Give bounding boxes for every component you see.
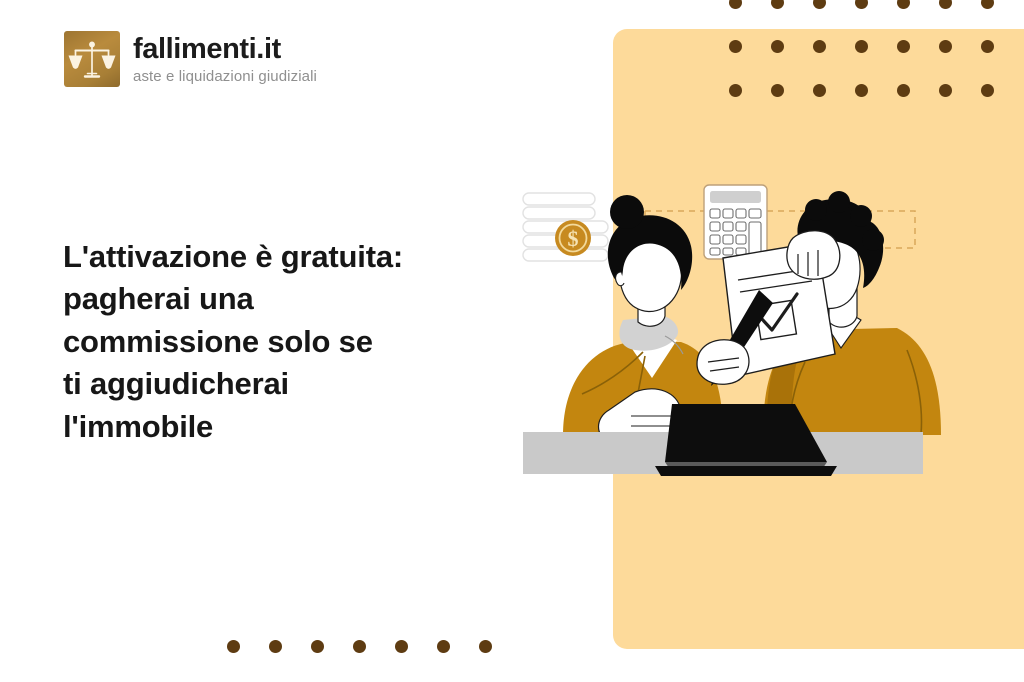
decor-dot <box>714 24 756 68</box>
decor-dot <box>422 624 464 668</box>
decor-dot <box>380 624 422 668</box>
decor-dot <box>924 0 966 24</box>
decor-dot <box>840 24 882 68</box>
decor-dot <box>254 668 296 682</box>
decor-dot <box>882 0 924 24</box>
decor-dot <box>380 668 422 682</box>
page-title: L'attivazione è gratuita: pagherai una c… <box>63 236 493 448</box>
logo-tagline: aste e liquidazioni giudiziali <box>133 69 317 84</box>
decor-dot <box>756 24 798 68</box>
decor-dot <box>464 624 506 668</box>
dollar-coin-icon: $ <box>555 220 591 256</box>
calculator-icon <box>704 185 767 259</box>
decor-dot <box>840 68 882 112</box>
decor-dot <box>924 24 966 68</box>
decor-dot <box>798 68 840 112</box>
decor-dot <box>212 668 254 682</box>
decor-dot <box>966 68 1008 112</box>
decor-dot <box>338 668 380 682</box>
svg-text:$: $ <box>568 226 579 251</box>
decor-dot <box>714 0 756 24</box>
decor-dot <box>296 624 338 668</box>
decor-dot <box>966 24 1008 68</box>
decor-dot <box>882 24 924 68</box>
decor-dot <box>840 0 882 24</box>
decor-dot <box>756 0 798 24</box>
decor-dot <box>338 624 380 668</box>
decor-dot <box>422 668 464 682</box>
decor-dot <box>464 668 506 682</box>
hand-holding-pen <box>697 340 749 385</box>
decor-dot <box>924 68 966 112</box>
brand-logo[interactable]: fallimenti.it aste e liquidazioni giudiz… <box>64 31 317 87</box>
hand-holding-document <box>787 231 840 279</box>
decor-dot <box>798 24 840 68</box>
hero-illustration: $ <box>505 170 945 490</box>
decor-dot <box>756 68 798 112</box>
decor-dot <box>212 624 254 668</box>
poster-canvas: fallimenti.it aste e liquidazioni giudiz… <box>0 0 1024 682</box>
decor-dot <box>882 68 924 112</box>
scales-of-justice-icon <box>64 31 120 87</box>
logo-name: fallimenti.it <box>133 35 317 64</box>
decor-dot <box>296 668 338 682</box>
decor-dot <box>798 0 840 24</box>
decor-dot <box>254 624 296 668</box>
dot-grid-bottom-left <box>212 624 506 682</box>
decor-dot <box>714 68 756 112</box>
dot-grid-top-right <box>714 0 1008 112</box>
decor-dot <box>966 0 1008 24</box>
